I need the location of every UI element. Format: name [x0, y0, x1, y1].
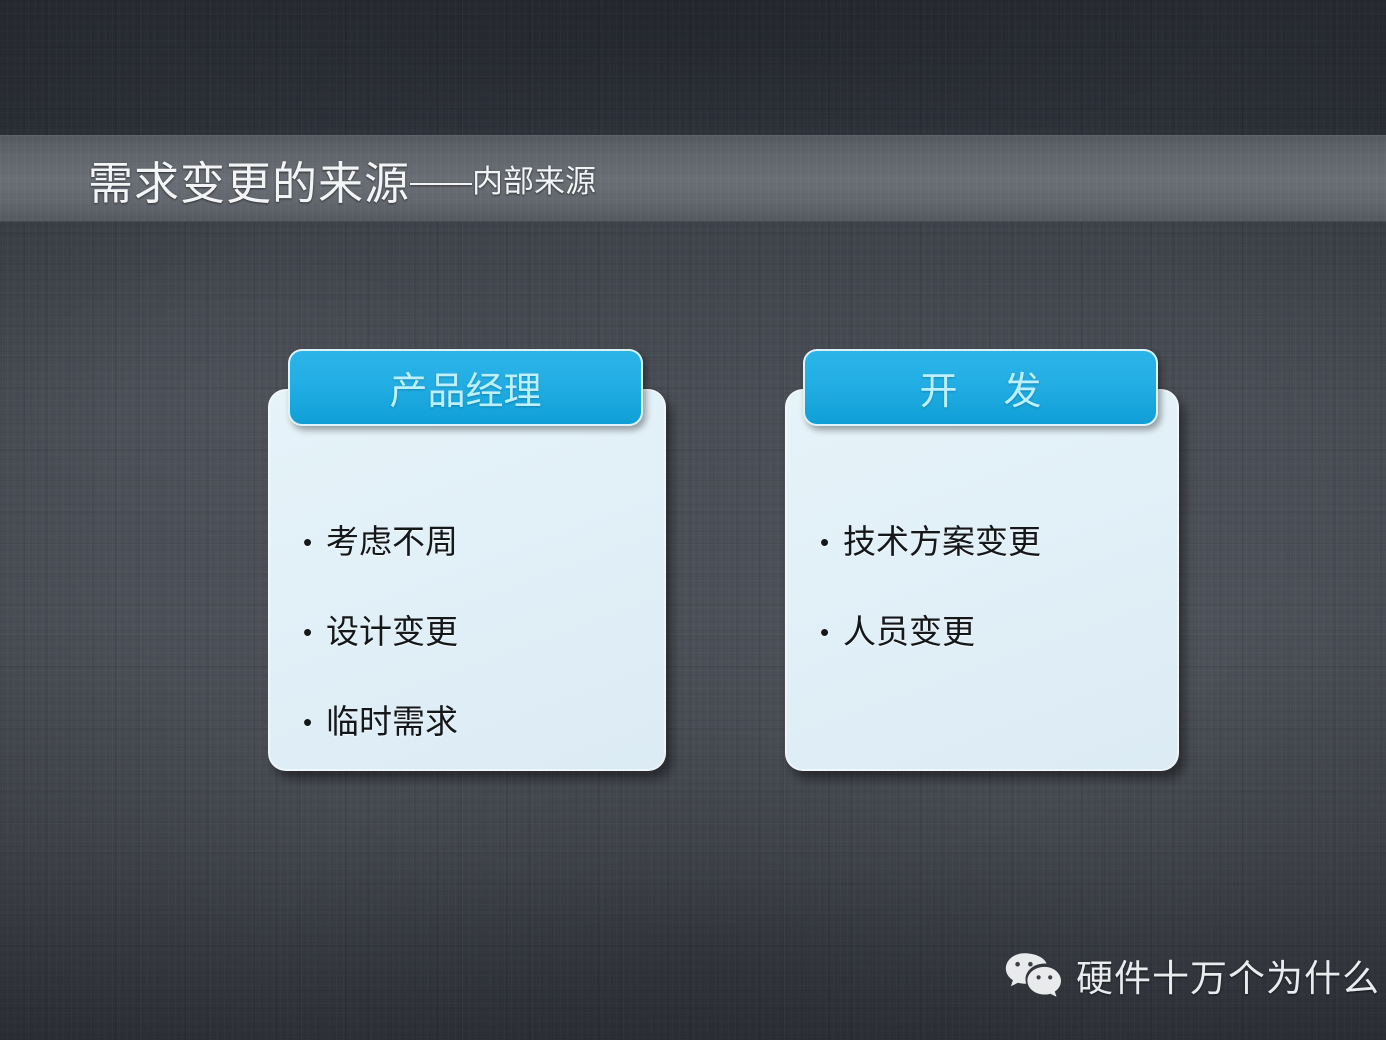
card-body: • 技术方案变更 • 人员变更 [785, 389, 1179, 771]
card-body: • 考虑不周 • 设计变更 • 临时需求 [268, 389, 666, 771]
card-header-development[interactable]: 开发 [803, 349, 1158, 426]
list-item-label: 考虑不周 [319, 525, 458, 558]
card-header-product-manager[interactable]: 产品经理 [288, 349, 643, 426]
list-item: • 人员变更 [820, 615, 1178, 648]
list-item-label: 人员变更 [836, 615, 975, 648]
list-item-label: 技术方案变更 [836, 525, 1041, 558]
card-header-label: 产品经理 [389, 360, 541, 415]
watermark: 硬件十万个为什么 [1004, 948, 1380, 1002]
card-product-manager[interactable]: • 考虑不周 • 设计变更 • 临时需求 产品经理 [268, 349, 666, 771]
page-title-sub: ——内部来源 [410, 156, 596, 203]
list-item: • 技术方案变更 [820, 525, 1178, 558]
bullet-dot-icon: • [303, 529, 319, 555]
list-item: • 考虑不周 [303, 525, 665, 558]
bullet-dot-icon: • [820, 529, 836, 555]
bullet-list: • 考虑不周 • 设计变更 • 临时需求 [269, 525, 665, 795]
list-item-label: 临时需求 [319, 705, 458, 738]
watermark-label: 硬件十万个为什么 [1076, 948, 1380, 1002]
page-title: 需求变更的来源 ——内部来源 [88, 140, 596, 218]
bullet-dot-icon: • [303, 709, 319, 735]
bullet-dot-icon: • [820, 619, 836, 645]
presentation-slide: 需求变更的来源 ——内部来源 • 考虑不周 • 设计变更 • 临时需求 产 [0, 0, 1386, 1040]
list-item-label: 设计变更 [319, 615, 458, 648]
list-item: • 设计变更 [303, 615, 665, 648]
wechat-icon [1004, 952, 1062, 998]
page-title-main: 需求变更的来源 [88, 147, 410, 212]
card-development[interactable]: • 技术方案变更 • 人员变更 开发 [785, 349, 1179, 771]
card-header-label: 开发 [873, 360, 1087, 415]
list-item: • 临时需求 [303, 705, 665, 738]
bullet-list: • 技术方案变更 • 人员变更 [786, 525, 1178, 705]
bullet-dot-icon: • [303, 619, 319, 645]
